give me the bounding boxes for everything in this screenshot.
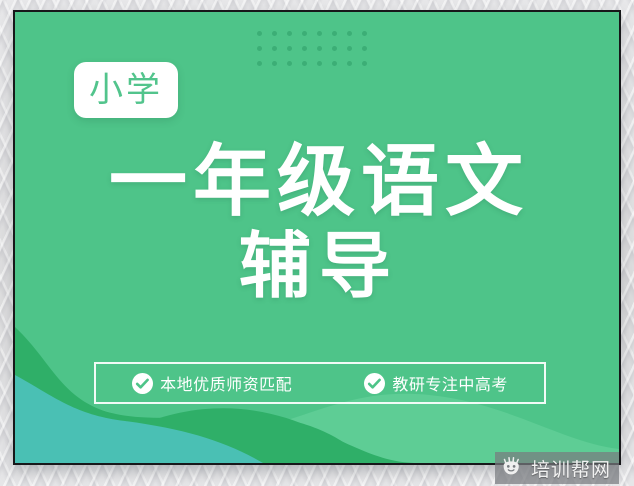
grade-badge-label: 小学 [89, 73, 163, 107]
grid-dot [347, 61, 352, 66]
check-circle-icon [364, 373, 385, 394]
grid-dot [317, 31, 322, 36]
grid-dot [272, 46, 277, 51]
grid-dot [362, 46, 367, 51]
dot-grid-decoration [257, 31, 369, 69]
feature-highlight-bar: 本地优质师资匹配 教研专注中高考 [94, 362, 546, 404]
grid-dot [302, 61, 307, 66]
grid-dot [257, 61, 262, 66]
site-watermark: 培训帮网 [495, 452, 619, 484]
page-title: 一年级语文 辅导 [15, 140, 621, 309]
course-poster-card: 小学 一年级语文 辅导 本地优质师资匹配 [13, 10, 621, 465]
grid-dot [317, 61, 322, 66]
grid-dot [302, 31, 307, 36]
sun-face-icon [501, 457, 525, 479]
page-background: 小学 一年级语文 辅导 本地优质师资匹配 [0, 0, 634, 486]
grid-dot [332, 46, 337, 51]
grid-dot [332, 61, 337, 66]
grid-dot [257, 46, 262, 51]
grid-dot [257, 31, 262, 36]
grid-dot [302, 46, 307, 51]
grid-dot [317, 46, 322, 51]
watermark-label: 培训帮网 [531, 455, 611, 482]
grid-dot [362, 31, 367, 36]
grid-dot [347, 31, 352, 36]
feature-label-1: 本地优质师资匹配 [160, 371, 292, 395]
grid-dot [272, 31, 277, 36]
grid-dot [287, 46, 292, 51]
grid-dot [347, 46, 352, 51]
feature-item-1: 本地优质师资匹配 [132, 371, 292, 395]
grade-badge: 小学 [74, 62, 178, 118]
headline-line-2: 辅导 [15, 224, 621, 309]
grid-dot [362, 61, 367, 66]
feature-item-2: 教研专注中高考 [364, 371, 508, 395]
grid-dot [272, 61, 277, 66]
grid-dot [287, 31, 292, 36]
headline-line-1: 一年级语文 [15, 140, 621, 224]
grid-dot [287, 61, 292, 66]
feature-label-2: 教研专注中高考 [392, 371, 508, 395]
check-circle-icon [132, 373, 153, 394]
grid-dot [332, 31, 337, 36]
dark-green-wave-right [135, 408, 419, 463]
